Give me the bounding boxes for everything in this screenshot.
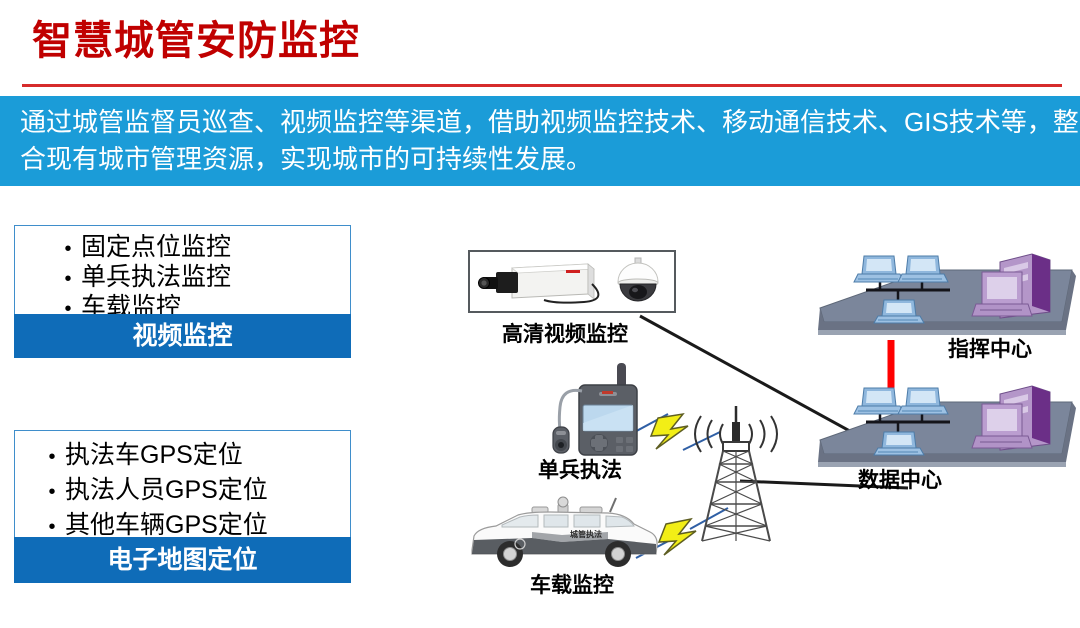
summary-banner: 通过城管监督员巡查、视频监控等渠道，借助视频监控技术、移动通信技术、GIS技术等… <box>0 96 1080 186</box>
list-item-label: 固定点位监控 <box>81 232 231 262</box>
bullet-icon: • <box>55 269 81 289</box>
label-handheld-enforcement: 单兵执法 <box>538 454 622 484</box>
label-data-center: 数据中心 <box>858 464 942 494</box>
card-gps-mapping-body: • 执法车GPS定位 • 执法人员GPS定位 • 其他车辆GPS定位 <box>14 430 351 537</box>
data-center-icon <box>810 378 1080 488</box>
card-video-monitoring-body: • 固定点位监控 • 单兵执法监控 • 车载监控 <box>14 225 351 314</box>
handheld-recorder-icon <box>544 361 664 466</box>
list-item-label: 执法人员GPS定位 <box>65 473 268 508</box>
van-marking-text: 城管执法 <box>570 529 602 539</box>
command-center-icon <box>810 246 1080 356</box>
link-bolt-to-tower-upper <box>683 432 720 450</box>
card-gps-mapping-header: 电子地图定位 <box>14 537 351 583</box>
list-item: • 执法车GPS定位 <box>39 438 350 473</box>
bullet-icon: • <box>39 517 65 537</box>
topology-diagram: 高清视频监控 单兵执法 <box>440 236 1080 628</box>
antenna-tower-icon <box>702 406 770 541</box>
list-item: • 固定点位监控 <box>55 232 350 262</box>
summary-banner-text: 通过城管监督员巡查、视频监控等渠道，借助视频监控技术、移动通信技术、GIS技术等… <box>20 104 1080 178</box>
title-divider <box>22 84 1062 87</box>
label-command-center: 指挥中心 <box>948 333 1032 363</box>
page-title: 智慧城管安防监控 <box>32 21 360 61</box>
dome-camera-icon <box>618 258 658 301</box>
list-item-label: 单兵执法监控 <box>81 262 231 292</box>
list-item: • 单兵执法监控 <box>55 262 350 292</box>
server-icon <box>972 254 1050 318</box>
list-item-label: 执法车GPS定位 <box>65 438 243 473</box>
workstation-icon <box>898 388 948 414</box>
workstation-icon <box>854 256 904 282</box>
workstation-icon <box>898 256 948 282</box>
list-item: • 执法人员GPS定位 <box>39 473 350 508</box>
bullet-icon: • <box>39 447 65 467</box>
card-video-monitoring: • 固定点位监控 • 单兵执法监控 • 车载监控 视频监控 <box>14 225 351 358</box>
bullet-icon: • <box>39 482 65 502</box>
server-icon <box>972 386 1050 450</box>
label-vehicle-monitoring: 车载监控 <box>530 569 614 599</box>
camera-illustrations <box>470 252 674 311</box>
bullet-icon: • <box>55 239 81 259</box>
card-video-monitoring-header: 视频监控 <box>14 314 351 358</box>
workstation-icon <box>854 388 904 414</box>
label-hd-video-monitoring: 高清视频监控 <box>502 318 628 348</box>
box-camera-icon <box>479 264 599 303</box>
enforcement-van-icon: 城管执法 <box>458 494 670 572</box>
card-gps-mapping: • 执法车GPS定位 • 执法人员GPS定位 • 其他车辆GPS定位 电子地图定… <box>14 430 351 583</box>
camera-photo-frame <box>468 250 676 313</box>
